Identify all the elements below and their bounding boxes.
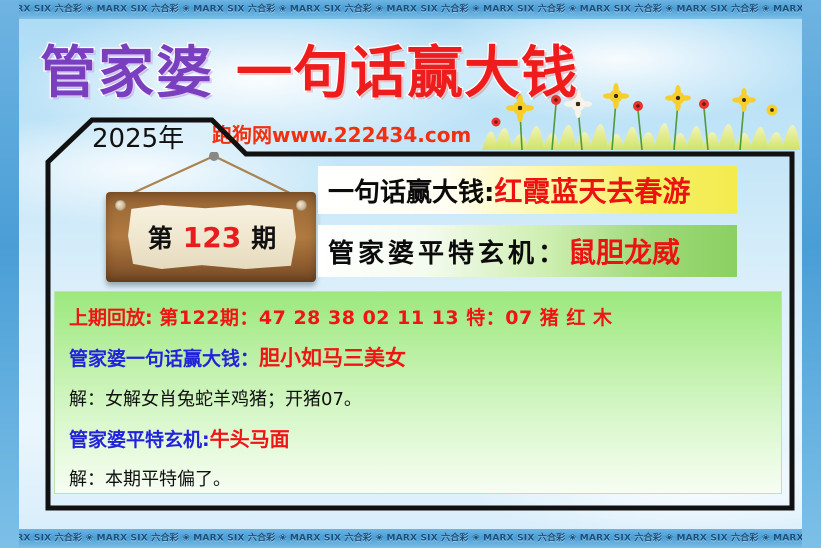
year-label: 2025年 [92,118,184,155]
phrase-value: 胆小如马三美女 [259,346,406,370]
lottery-poster: 管家婆 一句话赢大钱 跑狗网www.222434.com 2025年 第 123… [0,0,821,548]
phrase-explanation: 解：女解女肖兔蛇羊鸡猪；开猪07。 [69,385,767,411]
sign-board: 第 123 期 [106,192,316,282]
tema-label: 管家婆平特玄机: [69,429,210,451]
title-brand: 管家婆 [40,28,214,109]
banner-phrase: 一句话赢大钱: 红霞蓝天去春游 [318,166,737,214]
border-left: MARX SIX 六合彩 ❀ MARX SIX 六合彩 ❀ MARX SIX 六… [0,0,19,548]
tema-explanation: 解：本期平特偏了。 [69,465,767,491]
title-slogan: 一句话赢大钱 [236,28,578,109]
banner-phrase-value: 红霞蓝天去春游 [494,170,690,210]
issue-number: 123 [183,221,241,254]
tema-value: 牛头马面 [210,427,290,451]
previous-draw-label: 上期回放: [69,307,153,329]
border-top-text: MARX SIX 六合彩 ❀ MARX SIX 六合彩 ❀ MARX SIX 六… [0,5,821,14]
border-top: MARX SIX 六合彩 ❀ MARX SIX 六合彩 ❀ MARX SIX 六… [0,0,821,19]
poster-title: 管家婆 一句话赢大钱 [40,28,680,108]
previous-draw-issue: 第122期： [159,307,259,329]
issue-prefix: 第 [148,219,173,255]
banner-tema-value: 鼠胆龙威 [568,231,680,271]
site-url[interactable]: 跑狗网www.222434.com [212,119,471,148]
tema-row: 管家婆平特玄机:牛头马面 [69,423,767,452]
phrase-label: 管家婆一句话赢大钱： [69,348,259,370]
sign-paper: 第 123 期 [128,205,296,269]
banner-tema-label: 管家婆平特玄机： [328,233,568,270]
content-panel: 上期回放: 第122期：47 28 38 02 11 13 特：07 猪 红 木… [54,291,782,494]
previous-draw-row: 上期回放: 第122期：47 28 38 02 11 13 特：07 猪 红 木 [69,303,767,330]
border-bottom-text: MARX SIX 六合彩 ❀ MARX SIX 六合彩 ❀ MARX SIX 六… [0,534,821,543]
previous-draw-numbers: 47 28 38 02 11 13 特：07 猪 红 木 [259,307,613,329]
banner-tema: 管家婆平特玄机： 鼠胆龙威 [318,225,737,277]
hanging-sign: 第 123 期 [96,152,331,292]
border-bottom: MARX SIX 六合彩 ❀ MARX SIX 六合彩 ❀ MARX SIX 六… [0,529,821,548]
sign-hole-right [296,200,307,211]
border-right: MARX SIX 六合彩 ❀ MARX SIX 六合彩 ❀ MARX SIX 六… [802,0,821,548]
banner-phrase-label: 一句话赢大钱: [328,172,494,209]
phrase-row: 管家婆一句话赢大钱：胆小如马三美女 [69,342,767,372]
issue-suffix: 期 [251,219,276,255]
sign-hole-left [115,200,126,211]
